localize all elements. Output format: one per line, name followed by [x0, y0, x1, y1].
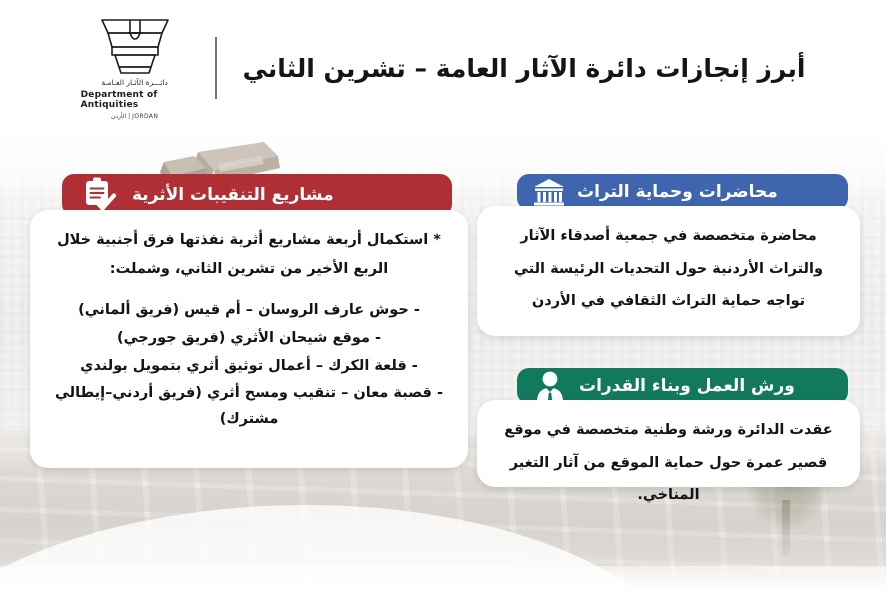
lectures-paragraph: محاضرة متخصصة في جمعية أصدقاء الآثار وال… — [499, 220, 838, 318]
list-item: - قلعة الكرك – أعمال توثيق أثري بتمويل ب… — [52, 354, 446, 380]
logo-arabic-name: دائـــرة الآثـار العـامـة — [101, 78, 168, 87]
workshops-title: ورش العمل وبناء القدرات — [579, 376, 795, 396]
excavations-bullet-list: - حوش عارف الروسان – أم قيس (فريق ألماني… — [52, 298, 446, 433]
page-header: أبرز إنجازات دائرة الآثار العامة – تشرين… — [0, 18, 886, 118]
list-item: - موقع شيحان الأثري (فريق جورجي) — [52, 326, 446, 352]
excavations-title: مشاريع التنقيبات الأثرية — [132, 185, 334, 205]
logo-english-name: Department of Antiquities — [81, 90, 189, 110]
department-logo: دائـــرة الآثـار العـامـة Department of … — [81, 17, 189, 120]
lectures-panel: محاضرة متخصصة في جمعية أصدقاء الآثار وال… — [477, 206, 860, 336]
column-capital-icon — [92, 17, 178, 75]
page-title: أبرز إنجازات دائرة الآثار العامة – تشرين… — [243, 54, 806, 83]
workshops-header-band: ورش العمل وبناء القدرات — [517, 368, 848, 404]
white-bottom-band — [0, 566, 886, 600]
infographic-page: أبرز إنجازات دائرة الآثار العامة – تشرين… — [0, 0, 886, 600]
workshops-paragraph: عقدت الدائرة ورشة وطنية متخصصة في موقع ق… — [499, 414, 838, 512]
header-divider — [215, 37, 217, 99]
list-item: - قصبة معان – تنقيب ومسح أثري (فريق أردن… — [52, 381, 446, 433]
person-icon — [533, 370, 567, 402]
excavations-panel: * استكمال أربعة مشاريع أثرية نفذتها فرق … — [30, 210, 468, 468]
classical-temple-icon — [533, 177, 565, 207]
clipboard-check-icon — [80, 175, 120, 215]
lectures-header-band: محاضرات وحماية التراث — [517, 174, 848, 210]
workshops-panel: عقدت الدائرة ورشة وطنية متخصصة في موقع ق… — [477, 400, 860, 487]
lectures-title: محاضرات وحماية التراث — [577, 182, 778, 202]
excavations-paragraph: * استكمال أربعة مشاريع أثرية نفذتها فرق … — [52, 226, 446, 284]
list-item: - حوش عارف الروسان – أم قيس (فريق ألماني… — [52, 298, 446, 324]
logo-subtitle: الأردن | JORDAN — [111, 113, 158, 120]
